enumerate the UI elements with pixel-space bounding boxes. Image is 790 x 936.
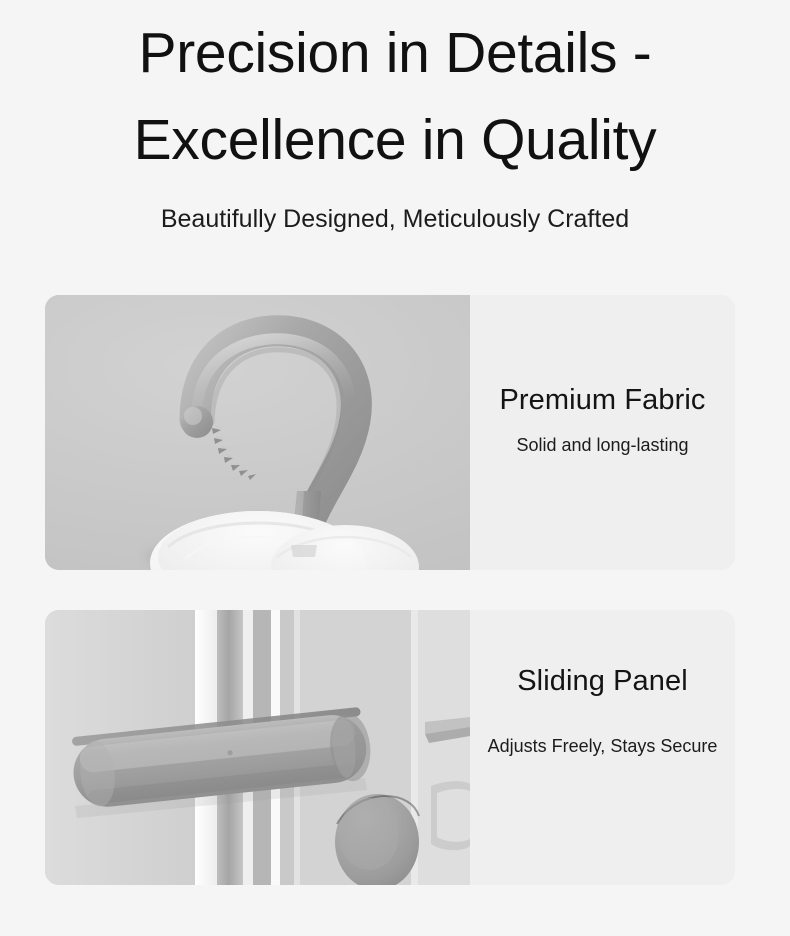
- hook-serration: [212, 428, 256, 480]
- feature-card-text-sliding-panel: Sliding Panel Adjusts Freely, Stays Secu…: [470, 610, 735, 885]
- page-header: Precision in Details - Excellence in Qua…: [0, 0, 790, 234]
- product-feature-page: Precision in Details - Excellence in Qua…: [0, 0, 790, 936]
- page-title-line-1: Precision in Details -: [40, 10, 750, 97]
- feature-card-premium-fabric[interactable]: Premium Fabric Solid and long-lasting: [45, 295, 735, 570]
- card-subtitle: Solid and long-lasting: [470, 435, 735, 456]
- page-title: Precision in Details - Excellence in Qua…: [0, 10, 790, 183]
- card-title: Premium Fabric: [470, 384, 735, 417]
- card-title: Sliding Panel: [470, 665, 735, 698]
- sliding-lever-product-photo: [45, 610, 470, 885]
- hook-illustration: [45, 295, 470, 570]
- page-title-line-2: Excellence in Quality: [40, 97, 750, 184]
- hook-product-photo: [45, 295, 470, 570]
- sliding-lever-illustration: [45, 610, 470, 885]
- page-subtitle: Beautifully Designed, Meticulously Craft…: [0, 205, 790, 234]
- feature-card-list: Premium Fabric Solid and long-lasting: [0, 295, 790, 885]
- card-subtitle: Adjusts Freely, Stays Secure: [470, 736, 735, 757]
- feature-card-sliding-panel[interactable]: Sliding Panel Adjusts Freely, Stays Secu…: [45, 610, 735, 885]
- feature-card-text-premium-fabric: Premium Fabric Solid and long-lasting: [470, 295, 735, 570]
